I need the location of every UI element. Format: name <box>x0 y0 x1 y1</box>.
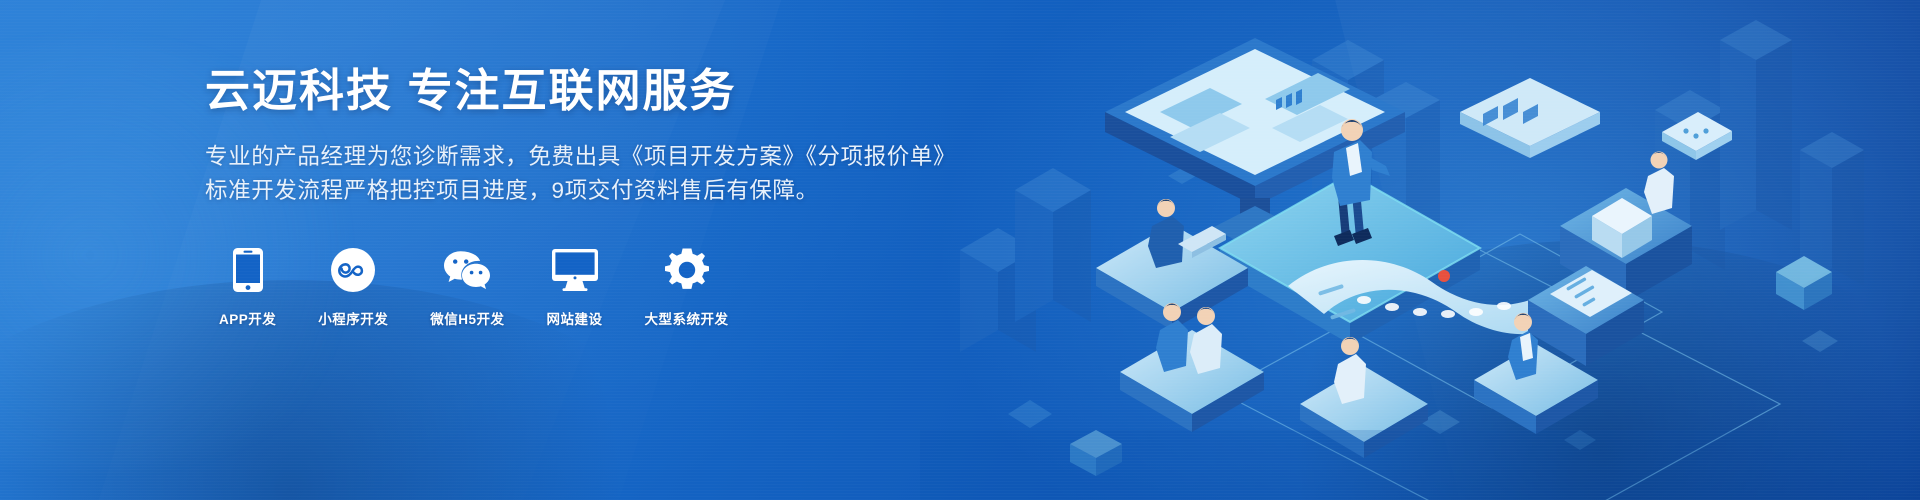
banner-subtitle: 专业的产品经理为您诊断需求，免费出具《项目开发方案》《分项报价单》 标准开发流程… <box>205 140 965 208</box>
banner-subtitle-line-2: 标准开发流程严格把控项目进度，9项交付资料售后有保障。 <box>205 174 965 208</box>
service-item-miniprogram[interactable]: 小程序开发 <box>318 248 388 328</box>
floating-chart-panel <box>1460 78 1600 158</box>
service-label: 小程序开发 <box>318 308 388 328</box>
banner-subtitle-line-1: 专业的产品经理为您诊断需求，免费出具《项目开发方案》《分项报价单》 <box>205 140 965 174</box>
service-item-wechat[interactable]: 微信H5开发 <box>430 248 504 328</box>
service-label: 微信H5开发 <box>430 308 504 328</box>
hero-banner: 云迈科技 专注互联网服务 专业的产品经理为您诊断需求，免费出具《项目开发方案》《… <box>0 0 1920 500</box>
service-label: 大型系统开发 <box>645 308 729 328</box>
service-item-large-system[interactable]: 大型系统开发 <box>645 248 729 328</box>
stair-blocks-right <box>1528 152 1692 367</box>
service-item-app[interactable]: APP开发 <box>219 248 276 328</box>
service-list: APP开发 小程序开发 <box>219 248 965 328</box>
platform-front-left-team <box>1120 303 1264 432</box>
mobile-phone-icon <box>233 248 263 292</box>
gear-icon <box>665 248 709 292</box>
banner-headline: 云迈科技 专注互联网服务 <box>205 66 965 116</box>
service-item-website[interactable]: 网站建设 <box>547 248 603 328</box>
mini-program-icon <box>331 248 375 292</box>
banner-copy: 云迈科技 专注互联网服务 专业的产品经理为您诊断需求，免费出具《项目开发方案》《… <box>205 66 965 328</box>
monitor-icon <box>552 248 598 292</box>
service-label: APP开发 <box>219 308 276 328</box>
wechat-icon <box>442 248 492 292</box>
isometric-illustration <box>920 0 1920 500</box>
service-label: 网站建设 <box>547 308 603 328</box>
